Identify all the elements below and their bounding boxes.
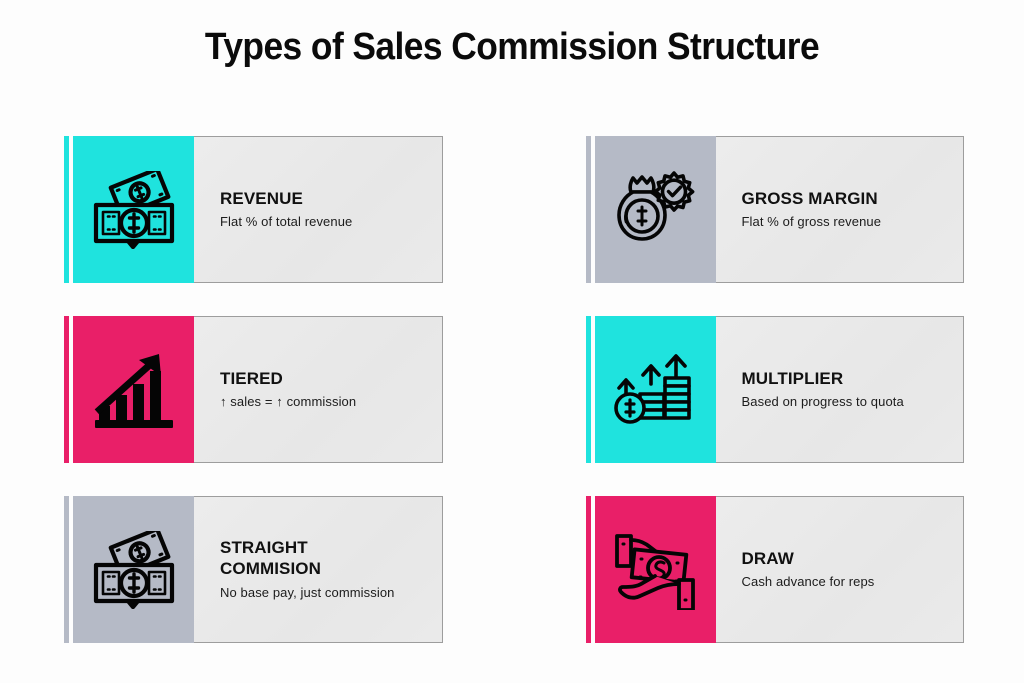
card-subtitle: Flat % of total revenue [220, 214, 442, 230]
hand-giving-cash-icon [611, 530, 699, 610]
card-subtitle: No base pay, just commission [220, 585, 442, 601]
card-title: STRAIGHT COMMISION [220, 538, 442, 579]
icon-panel [73, 496, 194, 643]
icon-panel [73, 136, 194, 283]
card-subtitle: ↑ sales = ↑ commission [220, 394, 442, 410]
card-subtitle: Flat % of gross revenue [742, 214, 964, 230]
card-row: REVENUE Flat % of total revenue [64, 136, 964, 283]
card-multiplier[interactable]: MULTIPLIER Based on progress to quota [586, 316, 965, 463]
money-bills-dollar-icon [90, 171, 178, 249]
card-row: TIERED ↑ sales = ↑ commission [64, 316, 964, 463]
card-draw[interactable]: DRAW Cash advance for reps [586, 496, 965, 643]
card-subtitle: Based on progress to quota [742, 394, 964, 410]
card-straight-commision[interactable]: STRAIGHT COMMISION No base pay, just com… [64, 496, 443, 643]
text-panel: DRAW Cash advance for reps [716, 496, 965, 643]
card-title: MULTIPLIER [742, 369, 964, 390]
card-title: TIERED [220, 369, 442, 390]
page-title: Types of Sales Commission Structure [36, 26, 988, 69]
text-panel: MULTIPLIER Based on progress to quota [716, 316, 965, 463]
bar-chart-growth-arrow-icon [91, 350, 177, 430]
icon-panel [595, 496, 716, 643]
card-gross-margin[interactable]: GROSS MARGIN Flat % of gross revenue [586, 136, 965, 283]
money-bag-gear-check-icon [613, 170, 697, 250]
card-subtitle: Cash advance for reps [742, 574, 964, 590]
icon-panel [595, 316, 716, 463]
text-panel: STRAIGHT COMMISION No base pay, just com… [194, 496, 443, 643]
card-title: DRAW [742, 549, 964, 570]
card-row: STRAIGHT COMMISION No base pay, just com… [64, 496, 964, 643]
infographic-page: Types of Sales Commission Structure [0, 0, 1024, 683]
coin-stacks-up-arrows-icon [612, 350, 698, 430]
text-panel: REVENUE Flat % of total revenue [194, 136, 443, 283]
card-title: REVENUE [220, 189, 442, 210]
icon-panel [595, 136, 716, 283]
icon-panel [73, 316, 194, 463]
text-panel: TIERED ↑ sales = ↑ commission [194, 316, 443, 463]
card-title: GROSS MARGIN [742, 189, 964, 210]
card-tiered[interactable]: TIERED ↑ sales = ↑ commission [64, 316, 443, 463]
money-bills-dollar-icon [90, 531, 178, 609]
text-panel: GROSS MARGIN Flat % of gross revenue [716, 136, 965, 283]
card-revenue[interactable]: REVENUE Flat % of total revenue [64, 136, 443, 283]
card-grid: REVENUE Flat % of total revenue [64, 136, 964, 643]
